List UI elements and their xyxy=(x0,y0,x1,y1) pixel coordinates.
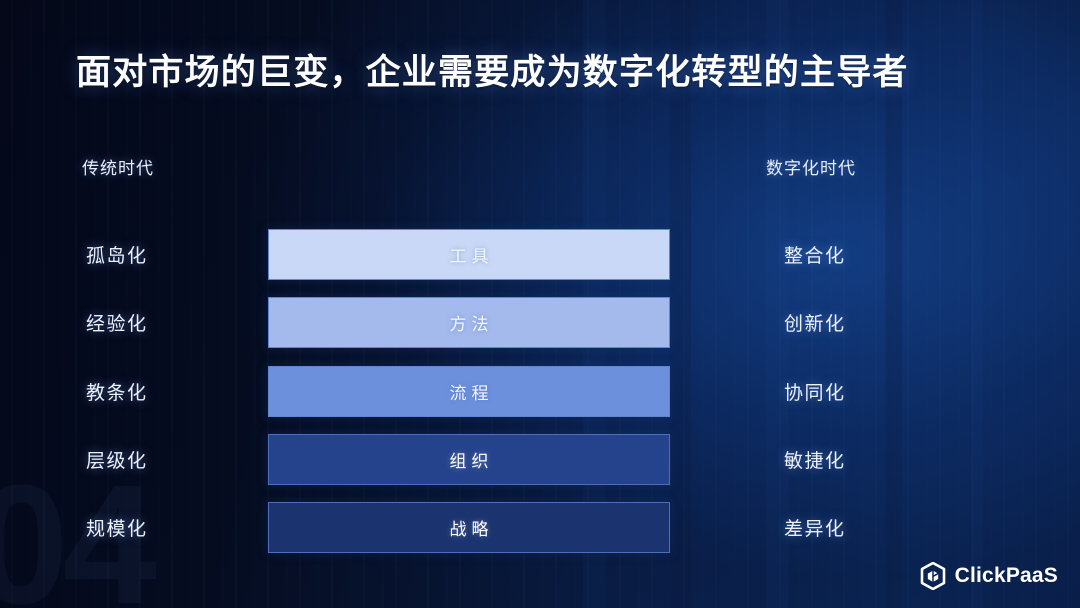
digital-era-label: 创新化 xyxy=(784,309,846,336)
capability-bar[interactable]: 组织 xyxy=(268,434,670,485)
digital-era-label: 敏捷化 xyxy=(784,446,846,473)
table-row: 孤岛化工具整合化 xyxy=(0,229,1080,280)
capability-bar[interactable]: 战略 xyxy=(268,502,670,553)
traditional-era-label: 经验化 xyxy=(86,309,148,336)
digital-era-label: 协同化 xyxy=(784,378,846,405)
comparison-rows: 孤岛化工具整合化经验化方法创新化教条化流程协同化层级化组织敏捷化规模化战略差异化 xyxy=(0,0,1080,608)
capability-bar-label: 工具 xyxy=(445,242,494,267)
brand-logo: ClickPaaS xyxy=(920,562,1058,590)
capability-bar-label: 战略 xyxy=(445,515,494,540)
capability-bar[interactable]: 方法 xyxy=(268,297,670,348)
hexagon-cube-icon xyxy=(920,562,946,590)
brand-name: ClickPaaS xyxy=(955,564,1058,588)
table-row: 层级化组织敏捷化 xyxy=(0,434,1080,485)
capability-bar[interactable]: 流程 xyxy=(268,366,670,417)
digital-era-label: 整合化 xyxy=(784,241,846,268)
capability-bar[interactable]: 工具 xyxy=(268,229,670,280)
slide-canvas: 04 面对市场的巨变，企业需要成为数字化转型的主导者 传统时代 数字化时代 孤岛… xyxy=(0,0,1080,608)
capability-bar-label: 方法 xyxy=(445,310,494,335)
capability-bar-label: 流程 xyxy=(445,379,494,404)
table-row: 经验化方法创新化 xyxy=(0,297,1080,348)
table-row: 规模化战略差异化 xyxy=(0,502,1080,553)
digital-era-label: 差异化 xyxy=(784,514,846,541)
traditional-era-label: 层级化 xyxy=(86,446,148,473)
traditional-era-label: 教条化 xyxy=(86,378,148,405)
traditional-era-label: 孤岛化 xyxy=(86,241,148,268)
capability-bar-label: 组织 xyxy=(445,447,494,472)
traditional-era-label: 规模化 xyxy=(86,514,148,541)
table-row: 教条化流程协同化 xyxy=(0,366,1080,417)
